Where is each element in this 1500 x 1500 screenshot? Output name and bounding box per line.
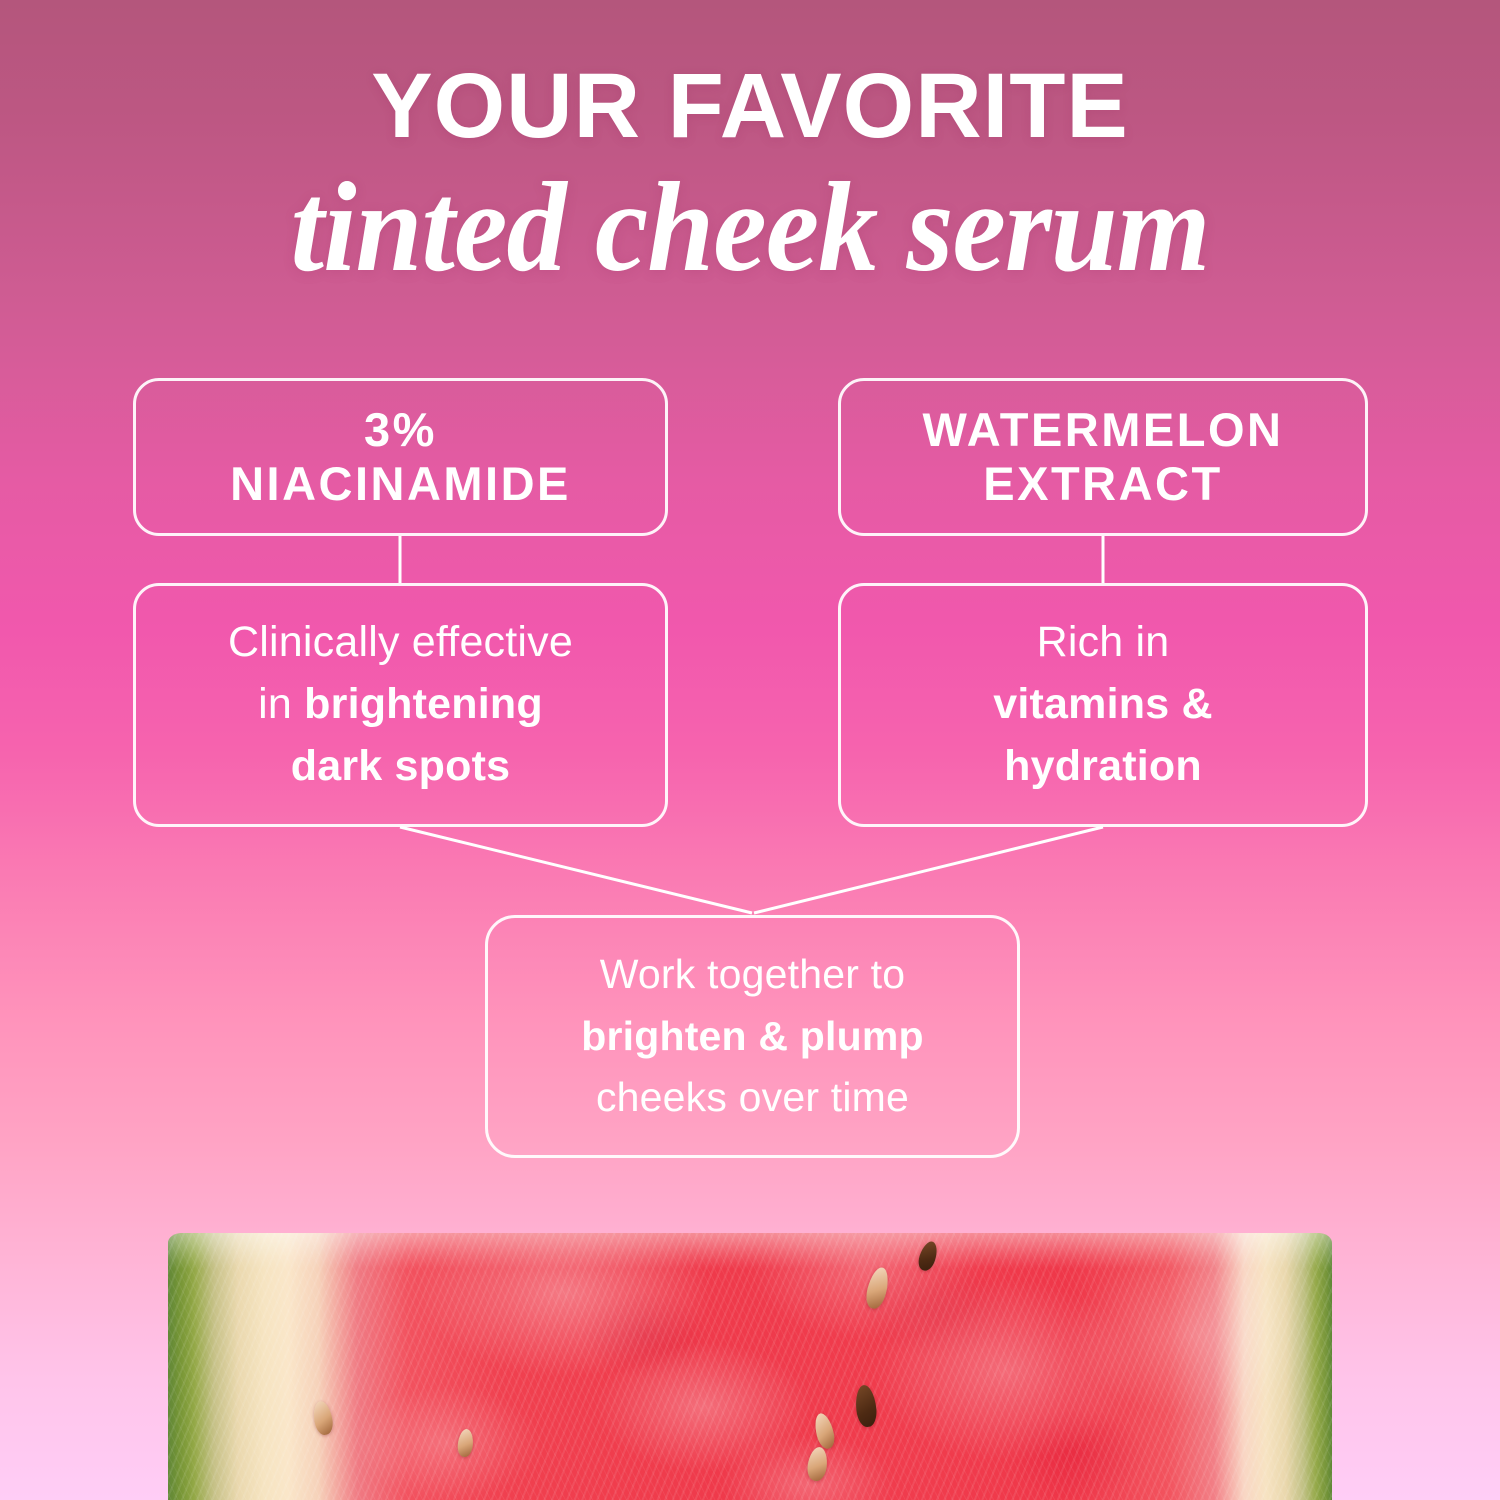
benefit-niacinamide-line-2-plain: in — [258, 680, 304, 728]
ingredient-chip-niacinamide-text: 3% NIACINAMIDE — [230, 403, 571, 510]
combined-outcome-text: Work together to brighten & plump cheeks… — [581, 944, 924, 1129]
watermelon-label-line-1: WATERMELON — [923, 403, 1284, 456]
benefit-watermelon-line-3-bold: hydration — [1004, 742, 1202, 790]
promo-poster: YOUR FAVORITE tinted cheek serum 3% NIAC… — [0, 0, 1500, 1500]
benefit-watermelon-line-2-bold: vitamins & — [993, 680, 1212, 728]
benefit-box-watermelon-text: Rich in vitamins & hydration — [993, 612, 1212, 798]
combined-line-3: cheeks over time — [596, 1074, 909, 1120]
benefit-box-niacinamide-text: Clinically effective in brightening dark… — [228, 612, 573, 798]
combined-outcome-box: Work together to brighten & plump cheeks… — [485, 915, 1020, 1158]
combined-line-2-bold: brighten & plump — [581, 1013, 924, 1059]
ingredient-chip-watermelon-text: WATERMELON EXTRACT — [923, 403, 1284, 510]
watermelon-top-highlight — [168, 1233, 1332, 1269]
ingredient-chip-niacinamide: 3% NIACINAMIDE — [133, 378, 668, 536]
combined-line-1: Work together to — [600, 951, 906, 997]
benefit-niacinamide-line-1: Clinically effective — [228, 618, 573, 666]
watermelon-slice-body — [168, 1233, 1332, 1500]
benefit-niacinamide-line-3-bold: dark spots — [291, 742, 510, 790]
ingredient-chip-watermelon: WATERMELON EXTRACT — [838, 378, 1368, 536]
watermelon-slice-image — [0, 1215, 1500, 1500]
niacinamide-label-line-2: NIACINAMIDE — [230, 457, 571, 510]
niacinamide-label-line-1: 3% — [364, 403, 437, 456]
connector-left-diagonal — [400, 827, 752, 913]
benefit-box-watermelon: Rich in vitamins & hydration — [838, 583, 1368, 827]
benefit-niacinamide-line-2-bold: brightening — [304, 680, 543, 728]
benefit-watermelon-line-1: Rich in — [1037, 618, 1170, 666]
connector-right-diagonal — [754, 827, 1103, 913]
watermelon-label-line-2: EXTRACT — [983, 457, 1222, 510]
benefit-box-niacinamide: Clinically effective in brightening dark… — [133, 583, 668, 827]
watermelon-flesh-speckle — [168, 1233, 1332, 1500]
